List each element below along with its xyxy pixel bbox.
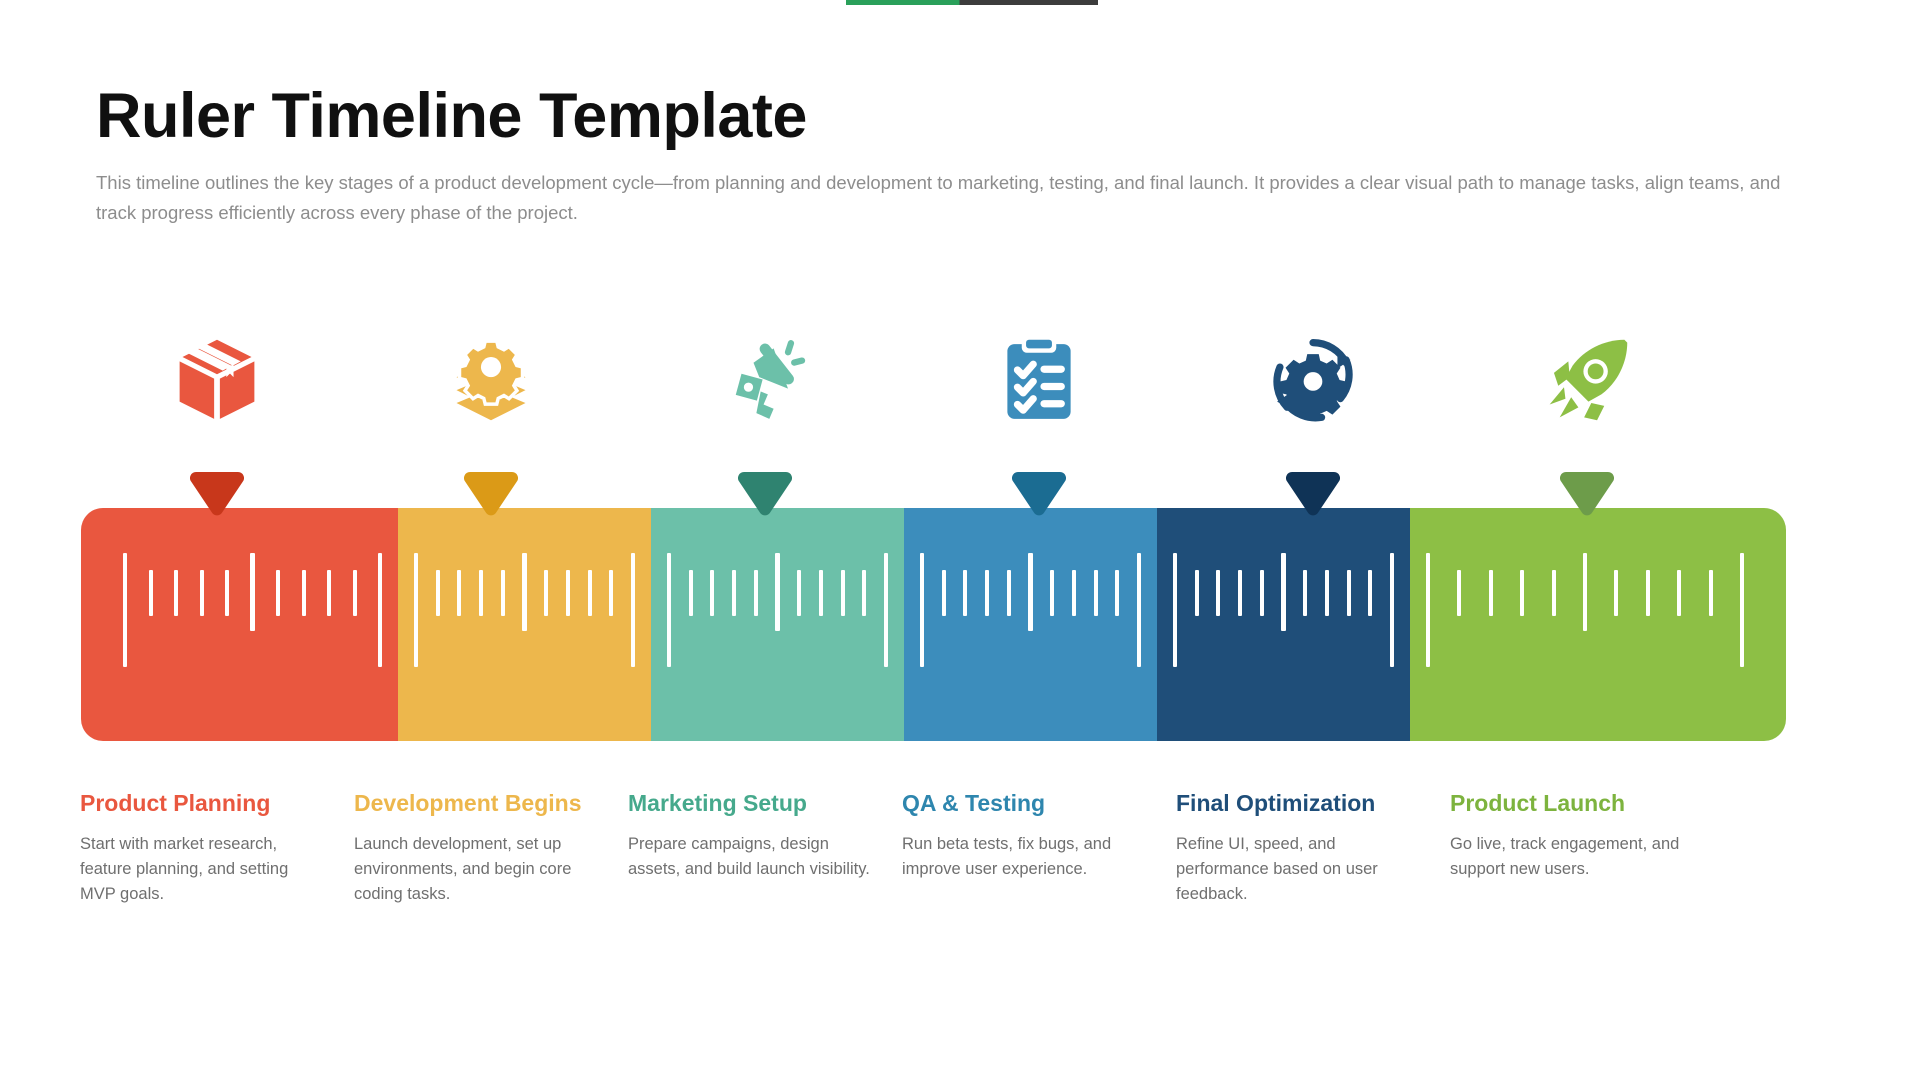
ruler-tick-short [479, 570, 483, 616]
stage-pointer-cell-6 [1450, 470, 1724, 532]
ruler-tick-short [149, 570, 153, 616]
ruler-tick-short [1489, 570, 1493, 616]
ruler-tick-short [276, 570, 280, 616]
ruler-tick-short [353, 570, 357, 616]
ruler-tick-short [1238, 570, 1242, 616]
ruler-segment-6[interactable] [1410, 508, 1786, 741]
stage-caption-title: Product Launch [1450, 790, 1698, 816]
ruler-tick-short [1195, 570, 1199, 616]
ruler-tick-short [501, 570, 505, 616]
stage-icon-cell-3 [628, 325, 902, 435]
stage-pointer-triangle-icon [738, 470, 792, 522]
ruler-tick-short [1677, 570, 1681, 616]
ruler-segment-2[interactable] [398, 508, 651, 741]
stage-caption-description: Refine UI, speed, and performance based … [1176, 832, 1424, 907]
stage-pointer-cell-5 [1176, 470, 1450, 532]
ruler-tick-short [732, 570, 736, 616]
stage-pointer-triangle-icon [1012, 470, 1066, 522]
stage-caption-3: Marketing SetupPrepare campaigns, design… [628, 790, 902, 907]
stage-caption-description: Launch development, set up environments,… [354, 832, 602, 907]
ruler-tick-short [327, 570, 331, 616]
ruler-tick-short [1520, 570, 1524, 616]
stage-caption-4: QA & TestingRun beta tests, fix bugs, an… [902, 790, 1176, 907]
stage-pointer-triangle-icon [464, 470, 518, 522]
stage-pointer-cell-4 [902, 470, 1176, 532]
ruler-tick-short [1260, 570, 1264, 616]
stage-caption-title: Final Optimization [1176, 790, 1424, 816]
stage-caption-description: Prepare campaigns, design assets, and bu… [628, 832, 876, 882]
stage-captions-row: Product PlanningStart with market resear… [80, 790, 1880, 907]
ruler-tick-short [1709, 570, 1713, 616]
ruler-tick-short [754, 570, 758, 616]
ruler-tick-short [1646, 570, 1650, 616]
gear-refresh-icon [1267, 334, 1359, 426]
ruler-tick-short [457, 570, 461, 616]
stage-caption-description: Start with market research, feature plan… [80, 832, 328, 907]
ruler-tick-short [819, 570, 823, 616]
stage-icon-cell-5 [1176, 325, 1450, 435]
ruler-tick-short [1552, 570, 1556, 616]
ruler-tick-short [1368, 570, 1372, 616]
package-box-icon [171, 334, 263, 426]
ruler-tick-tall [378, 553, 383, 667]
ruler-tick-medium [1281, 553, 1286, 631]
ruler-tick-medium [775, 553, 780, 631]
ruler-tick-short [1457, 570, 1461, 616]
ruler-tick-medium [250, 553, 255, 631]
stage-icons-row [80, 325, 1880, 435]
stage-icon-cell-1 [80, 325, 354, 435]
ruler-tick-short [1094, 570, 1098, 616]
ruler-tick-short [225, 570, 229, 616]
ruler-tick-tall [1137, 553, 1142, 667]
stage-caption-title: Product Planning [80, 790, 328, 816]
ruler-tick-short [942, 570, 946, 616]
ruler-tick-short [174, 570, 178, 616]
stage-caption-description: Run beta tests, fix bugs, and improve us… [902, 832, 1150, 882]
gear-layers-icon [445, 334, 537, 426]
ruler-tick-tall [631, 553, 636, 667]
ruler-tick-short [200, 570, 204, 616]
ruler-tick-tall [667, 553, 672, 667]
stage-icon-cell-6 [1450, 325, 1724, 435]
ruler-tick-tall [884, 553, 889, 667]
stage-pointers-row [80, 470, 1880, 532]
stage-caption-5: Final OptimizationRefine UI, speed, and … [1176, 790, 1450, 907]
stage-caption-2: Development BeginsLaunch development, se… [354, 790, 628, 907]
stage-caption-title: Marketing Setup [628, 790, 876, 816]
ruler-tick-short [1072, 570, 1076, 616]
rocket-icon [1541, 334, 1633, 426]
stage-caption-6: Product LaunchGo live, track engagement,… [1450, 790, 1724, 907]
ruler-tick-short [1050, 570, 1054, 616]
ruler-tick-short [1007, 570, 1011, 616]
stage-pointer-triangle-icon [190, 470, 244, 522]
ruler-tick-short [588, 570, 592, 616]
ruler-tick-short [302, 570, 306, 616]
ruler-segment-3[interactable] [651, 508, 904, 741]
ruler-tick-medium [1583, 553, 1588, 631]
page-subtitle: This timeline outlines the key stages of… [96, 168, 1816, 228]
page-title: Ruler Timeline Template [96, 82, 1856, 150]
ruler-tick-short [797, 570, 801, 616]
stage-icon-cell-4 [902, 325, 1176, 435]
ruler-tick-short [566, 570, 570, 616]
ruler-tick-tall [123, 553, 128, 667]
header: Ruler Timeline Template This timeline ou… [96, 82, 1856, 228]
stage-pointer-cell-3 [628, 470, 902, 532]
stage-caption-1: Product PlanningStart with market resear… [80, 790, 354, 907]
stage-caption-title: Development Begins [354, 790, 602, 816]
ruler-segment-1[interactable] [81, 508, 398, 741]
ruler-tick-short [609, 570, 613, 616]
ruler-tick-short [544, 570, 548, 616]
top-accent-bar [846, 0, 1098, 5]
ruler-tick-short [1115, 570, 1119, 616]
stage-caption-title: QA & Testing [902, 790, 1150, 816]
stage-caption-description: Go live, track engagement, and support n… [1450, 832, 1698, 882]
ruler-tick-tall [1173, 553, 1178, 667]
ruler-tick-medium [522, 553, 527, 631]
ruler-tick-tall [1426, 553, 1431, 667]
ruler-tick-medium [1028, 553, 1033, 631]
stage-pointer-triangle-icon [1286, 470, 1340, 522]
clipboard-checklist-icon [993, 334, 1085, 426]
ruler-tick-short [1216, 570, 1220, 616]
ruler-tick-short [963, 570, 967, 616]
stage-pointer-triangle-icon [1560, 470, 1614, 522]
ruler-tick-short [1325, 570, 1329, 616]
stage-icon-cell-2 [354, 325, 628, 435]
ruler-tick-tall [920, 553, 925, 667]
ruler-segment-5[interactable] [1157, 508, 1410, 741]
ruler-tick-tall [1740, 553, 1745, 667]
ruler-tick-short [1303, 570, 1307, 616]
ruler-tick-short [841, 570, 845, 616]
ruler-tick-short [689, 570, 693, 616]
ruler-tick-tall [414, 553, 419, 667]
megaphone-icon [719, 334, 811, 426]
ruler-tick-short [1347, 570, 1351, 616]
ruler-tick-short [985, 570, 989, 616]
ruler-tick-short [1614, 570, 1618, 616]
stage-pointer-cell-1 [80, 470, 354, 532]
ruler-tick-tall [1390, 553, 1395, 667]
stage-pointer-cell-2 [354, 470, 628, 532]
ruler-tick-short [862, 570, 866, 616]
ruler-tick-short [710, 570, 714, 616]
ruler-tick-short [436, 570, 440, 616]
ruler-segment-4[interactable] [904, 508, 1157, 741]
ruler-timeline-bar [81, 508, 1786, 741]
